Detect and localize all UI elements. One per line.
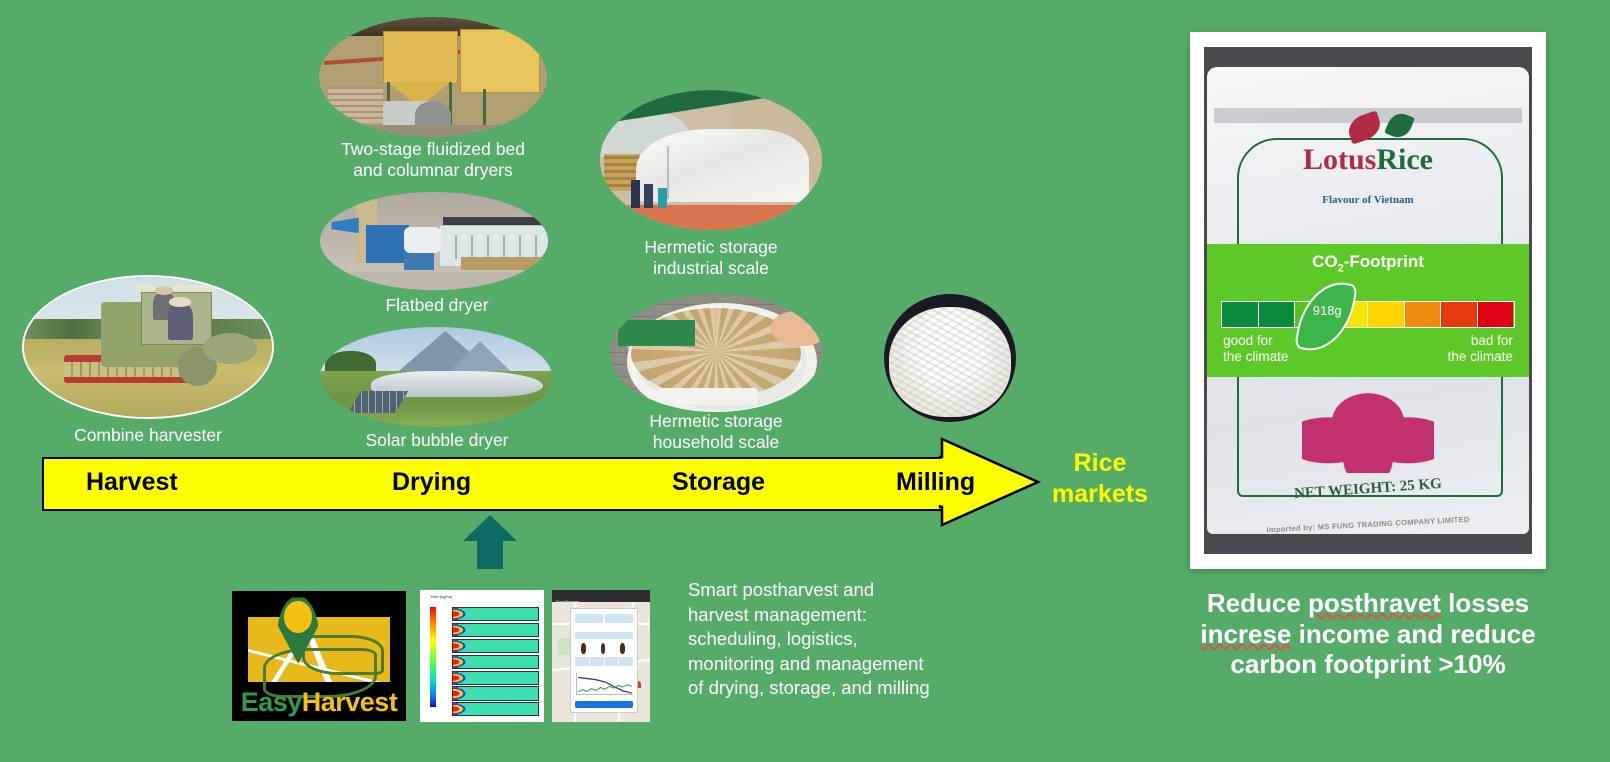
caption-flatbed-dryer: Flatbed dryer bbox=[323, 295, 551, 316]
brand-rice-text: Rice bbox=[1376, 143, 1433, 176]
up-arrow-icon bbox=[461, 513, 519, 571]
caption-line-2: household scale bbox=[608, 432, 824, 453]
heatmap-strip bbox=[452, 686, 538, 700]
photo-solar-bubble-dryer bbox=[320, 327, 552, 427]
co2-footprint-label: CO2-Footprint 918g good for the climate bbox=[1207, 244, 1529, 377]
co2-good-line-1: good for bbox=[1223, 333, 1288, 349]
brand-lotus-text: Lotus bbox=[1303, 143, 1376, 176]
co2-segment bbox=[1478, 302, 1514, 327]
outcome-line-3: carbon footprint >10% bbox=[1180, 649, 1556, 680]
photo-combine-harvester bbox=[24, 277, 272, 417]
heatmap-strip bbox=[452, 702, 538, 716]
co2-label-title: CO2-Footprint bbox=[1207, 252, 1529, 274]
caption-hermetic-storage-industrial: Hermetic storage industrial scale bbox=[598, 237, 824, 278]
co2-good-line-2: the climate bbox=[1223, 349, 1288, 365]
co2-bad-line-2: the climate bbox=[1448, 349, 1513, 365]
logo-easy-text: Easy bbox=[241, 687, 302, 717]
caption-solar-bubble-dryer: Solar bubble dryer bbox=[322, 430, 552, 451]
co2-segment bbox=[1368, 302, 1405, 327]
heatmap-strip bbox=[452, 639, 538, 653]
brand-wordmark: LotusRice bbox=[1204, 143, 1532, 177]
heatmap-strip bbox=[452, 655, 538, 669]
outcome-misspelling: posthravet bbox=[1308, 588, 1441, 618]
figure-header-label: Yield (kg/ha) bbox=[430, 594, 452, 599]
stage-label-harvest: Harvest bbox=[86, 468, 178, 497]
co2-bad-line-1: bad for bbox=[1448, 333, 1513, 349]
outcome-line-2: increse income and reduce bbox=[1180, 619, 1556, 650]
co2-title-prefix: CO bbox=[1312, 252, 1338, 271]
description-line: Smart postharvest and bbox=[688, 578, 1008, 603]
smart-management-description: Smart postharvest and harvest management… bbox=[688, 578, 1008, 701]
rice-markets-line-1: Rice bbox=[1035, 448, 1165, 479]
heatmap-strip bbox=[452, 607, 538, 621]
heatmap-strip bbox=[452, 623, 538, 637]
lotus-flower-graphic bbox=[1302, 387, 1433, 473]
description-line: monitoring and management bbox=[688, 652, 1008, 677]
outcome-text: losses bbox=[1441, 588, 1529, 618]
co2-value-text: 918g bbox=[1303, 303, 1351, 318]
photo-hermetic-storage-industrial bbox=[600, 90, 822, 230]
description-line: harvest management: bbox=[688, 603, 1008, 628]
outcome-line-1: Reduce posthravet losses bbox=[1180, 588, 1556, 619]
caption-two-stage-dryer: Two-stage fluidized bed and columnar dry… bbox=[308, 139, 558, 180]
co2-title-suffix: -Footprint bbox=[1344, 252, 1424, 271]
caption-line-1: Two-stage fluidized bed bbox=[308, 139, 558, 160]
easyharvest-logo: EasyHarvest bbox=[232, 591, 406, 721]
slide-canvas: Combine harvester Two-stage fluidized be… bbox=[0, 0, 1610, 762]
co2-scale bbox=[1221, 301, 1514, 328]
drying-simulation-figure: Yield (kg/ha) bbox=[420, 590, 544, 722]
caption-line-2: industrial scale bbox=[598, 258, 824, 279]
app-primary-button[interactable] bbox=[575, 701, 634, 708]
logo-harvest-text: Harvest bbox=[302, 687, 398, 717]
outcome-text: Reduce bbox=[1207, 588, 1308, 618]
caption-combine-harvester: Combine harvester bbox=[20, 425, 276, 446]
app-info-card bbox=[570, 608, 639, 713]
rice-markets-line-2: markets bbox=[1035, 479, 1165, 510]
description-line: scheduling, logistics, bbox=[688, 627, 1008, 652]
rice-markets-destination: Rice markets bbox=[1035, 448, 1165, 511]
outcome-misspelling: increse bbox=[1200, 619, 1291, 649]
co2-bad-caption: bad for the climate bbox=[1448, 333, 1513, 365]
co2-segment bbox=[1405, 302, 1442, 327]
outcome-statement: Reduce posthravet losses increse income … bbox=[1180, 588, 1556, 680]
colorbar bbox=[430, 607, 436, 707]
co2-value-marker: 918g bbox=[1294, 276, 1358, 357]
co2-segment bbox=[1259, 302, 1296, 327]
outcome-text: income and reduce bbox=[1291, 619, 1535, 649]
photo-milled-rice bbox=[884, 294, 1016, 422]
photo-lotus-rice-bag: LotusRice Flavour of Vietnam AND EXCELLE… bbox=[1204, 47, 1532, 554]
co2-segment bbox=[1222, 302, 1259, 327]
easystorage-app-screenshot: EasyStorage bbox=[552, 590, 650, 722]
caption-hermetic-storage-household: Hermetic storage household scale bbox=[608, 411, 824, 452]
caption-line-1: Hermetic storage bbox=[608, 411, 824, 432]
photo-two-stage-dryer bbox=[319, 17, 547, 137]
stage-label-drying: Drying bbox=[392, 468, 471, 497]
app-titlebar: EasyStorage bbox=[552, 590, 650, 602]
co2-good-caption: good for the climate bbox=[1223, 333, 1288, 365]
co2-segment bbox=[1441, 302, 1478, 327]
caption-line-1: Hermetic storage bbox=[598, 237, 824, 258]
stage-label-milling: Milling bbox=[896, 468, 975, 497]
photo-hermetic-storage-household bbox=[610, 294, 822, 412]
app-trend-chart bbox=[576, 673, 633, 695]
caption-line-2: and columnar dryers bbox=[308, 160, 558, 181]
stage-label-storage: Storage bbox=[672, 468, 765, 497]
heatmap-strip bbox=[452, 671, 538, 685]
brand-tagline: Flavour of Vietnam bbox=[1204, 194, 1532, 206]
photo-flatbed-dryer bbox=[320, 192, 548, 290]
description-line: of drying, storage, and milling bbox=[688, 676, 1008, 701]
easyharvest-wordmark: EasyHarvest bbox=[232, 687, 406, 718]
